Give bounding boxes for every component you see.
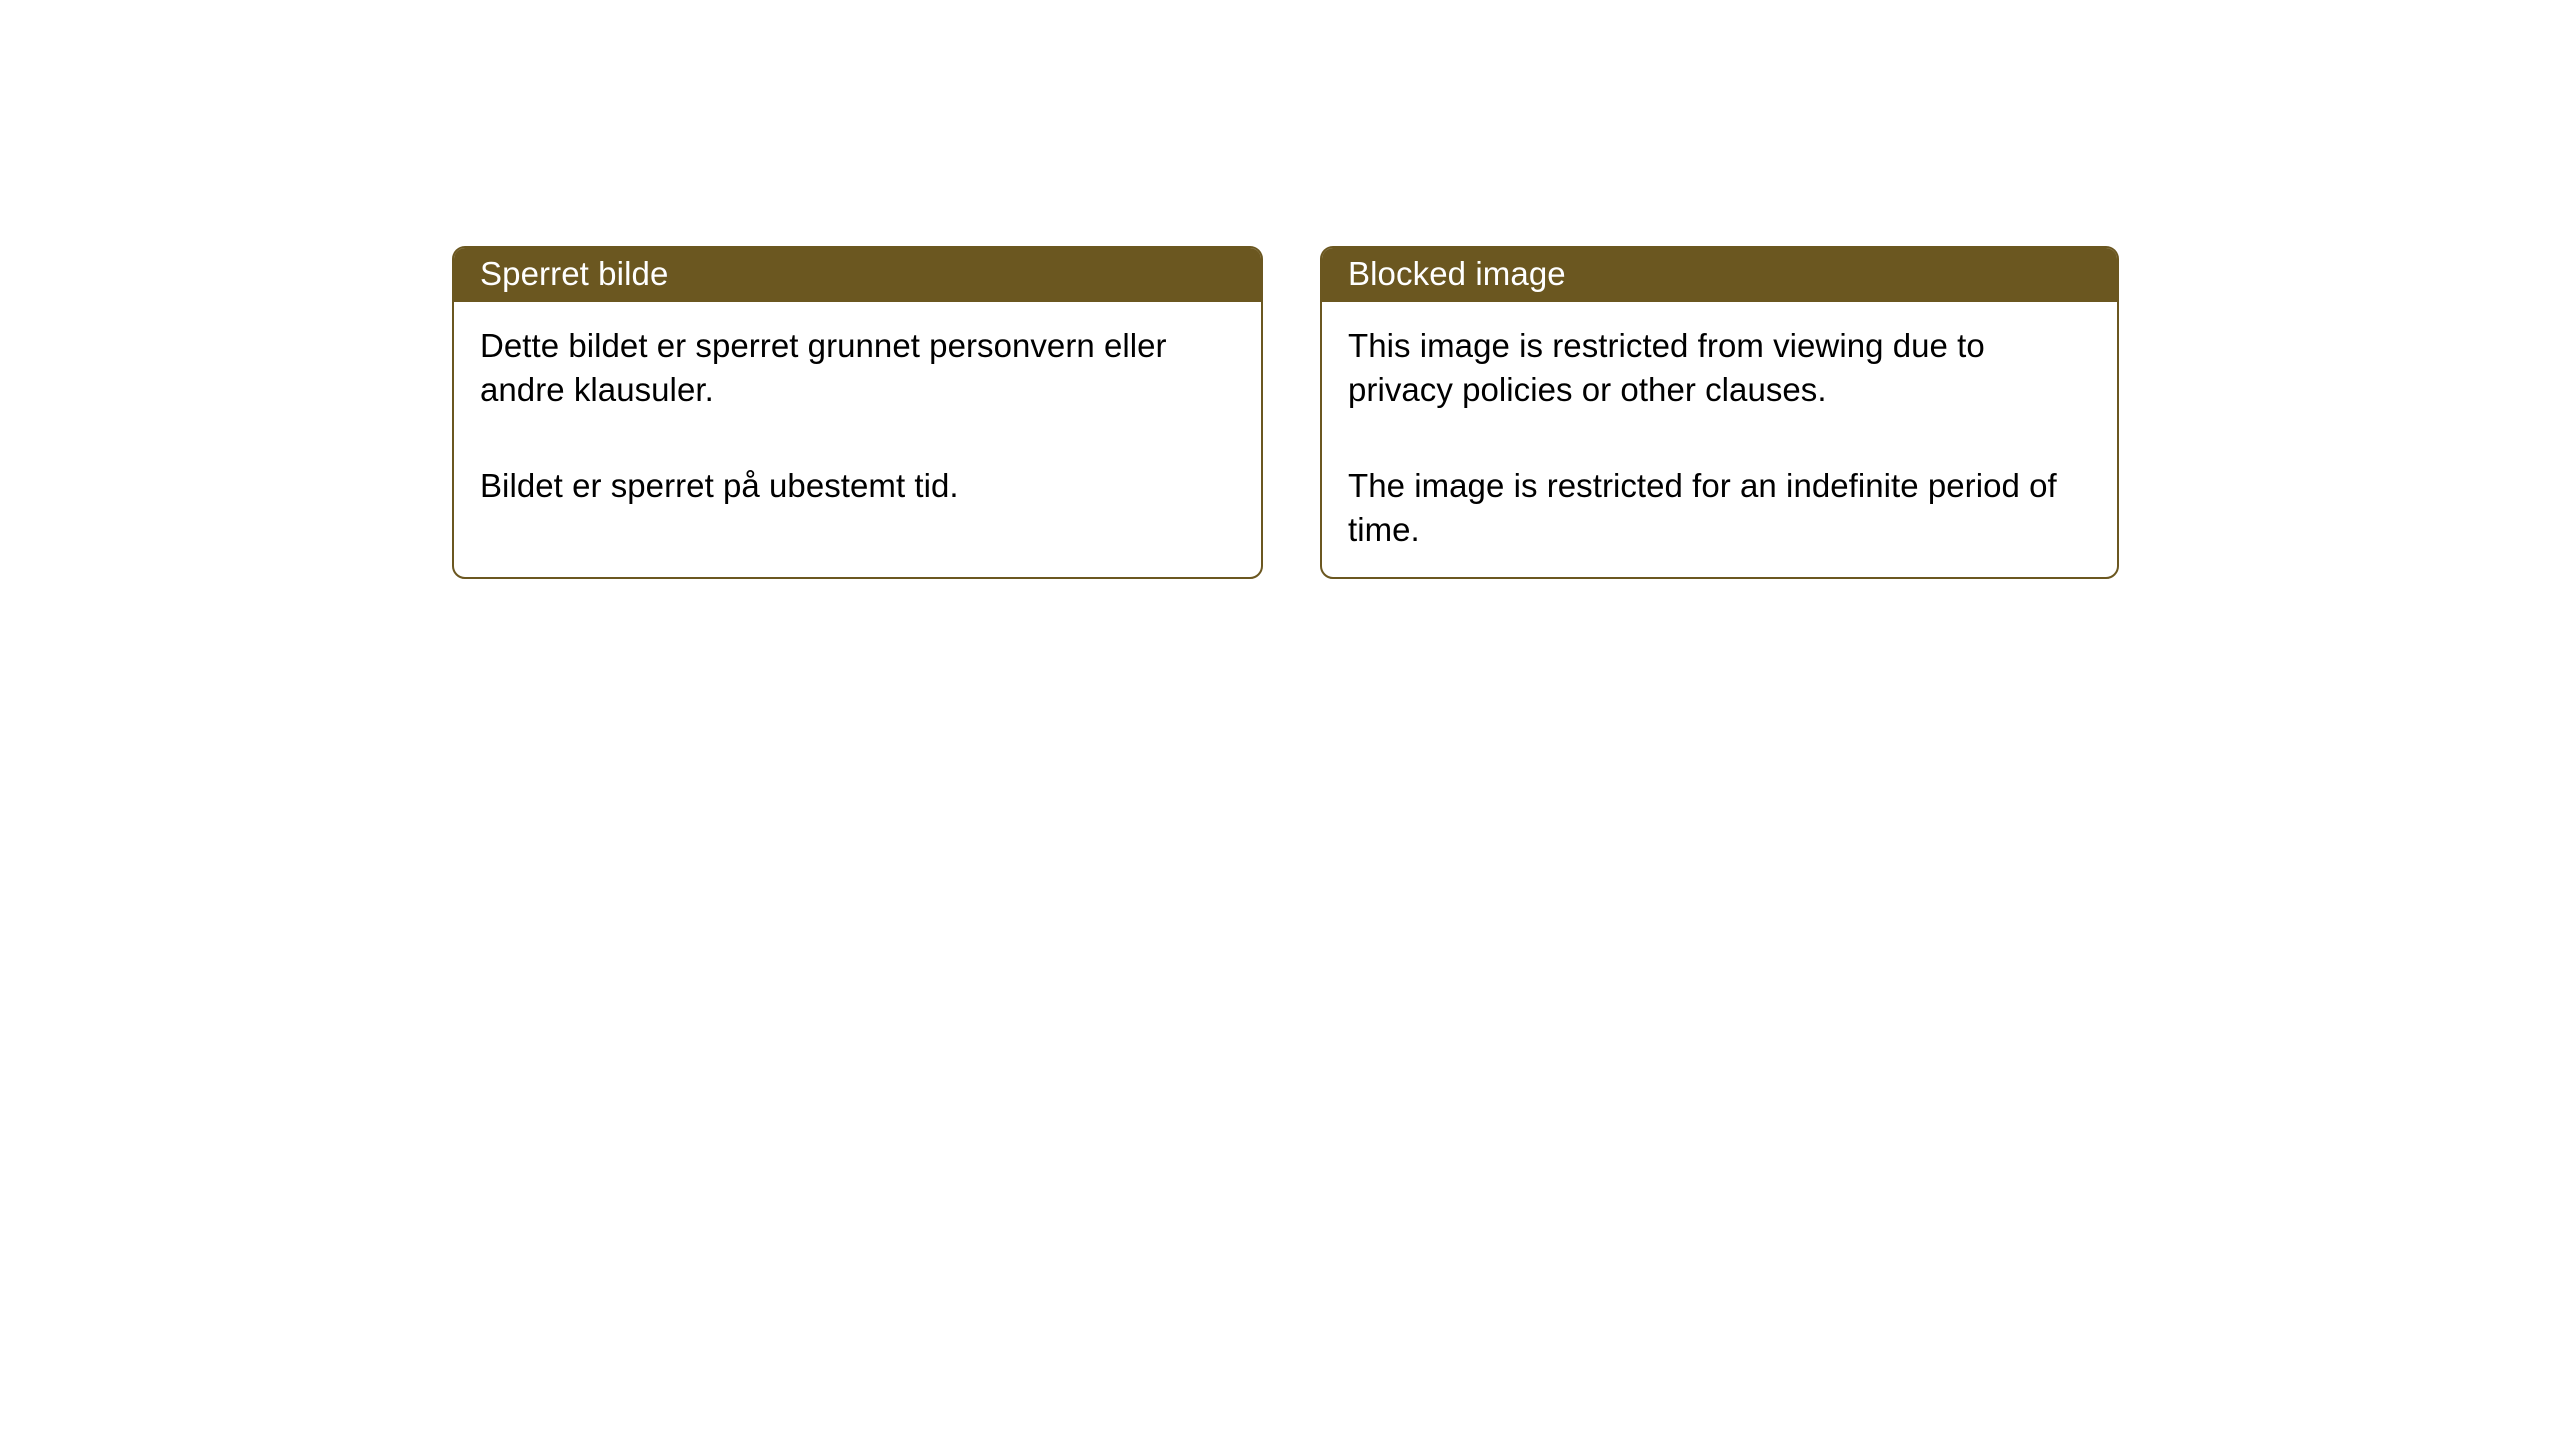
blocked-image-panel-english: Blocked image This image is restricted f… — [1320, 246, 2119, 579]
panel-paragraph-norwegian-2: Bildet er sperret på ubestemt tid. — [480, 464, 1237, 508]
blocked-image-panel-norwegian: Sperret bilde Dette bildet er sperret gr… — [452, 246, 1263, 579]
panel-paragraph-english-1: This image is restricted from viewing du… — [1348, 324, 2093, 412]
panel-header-english: Blocked image — [1320, 246, 2119, 302]
page-canvas: Sperret bilde Dette bildet er sperret gr… — [0, 0, 2560, 1440]
panel-title-norwegian: Sperret bilde — [480, 255, 668, 292]
panel-header-norwegian: Sperret bilde — [452, 246, 1263, 302]
panel-body-english: This image is restricted from viewing du… — [1322, 302, 2117, 552]
panel-paragraph-english-2: The image is restricted for an indefinit… — [1348, 464, 2093, 552]
panel-title-english: Blocked image — [1348, 255, 1566, 292]
panel-body-norwegian: Dette bildet er sperret grunnet personve… — [454, 302, 1261, 508]
panel-paragraph-norwegian-1: Dette bildet er sperret grunnet personve… — [480, 324, 1237, 412]
